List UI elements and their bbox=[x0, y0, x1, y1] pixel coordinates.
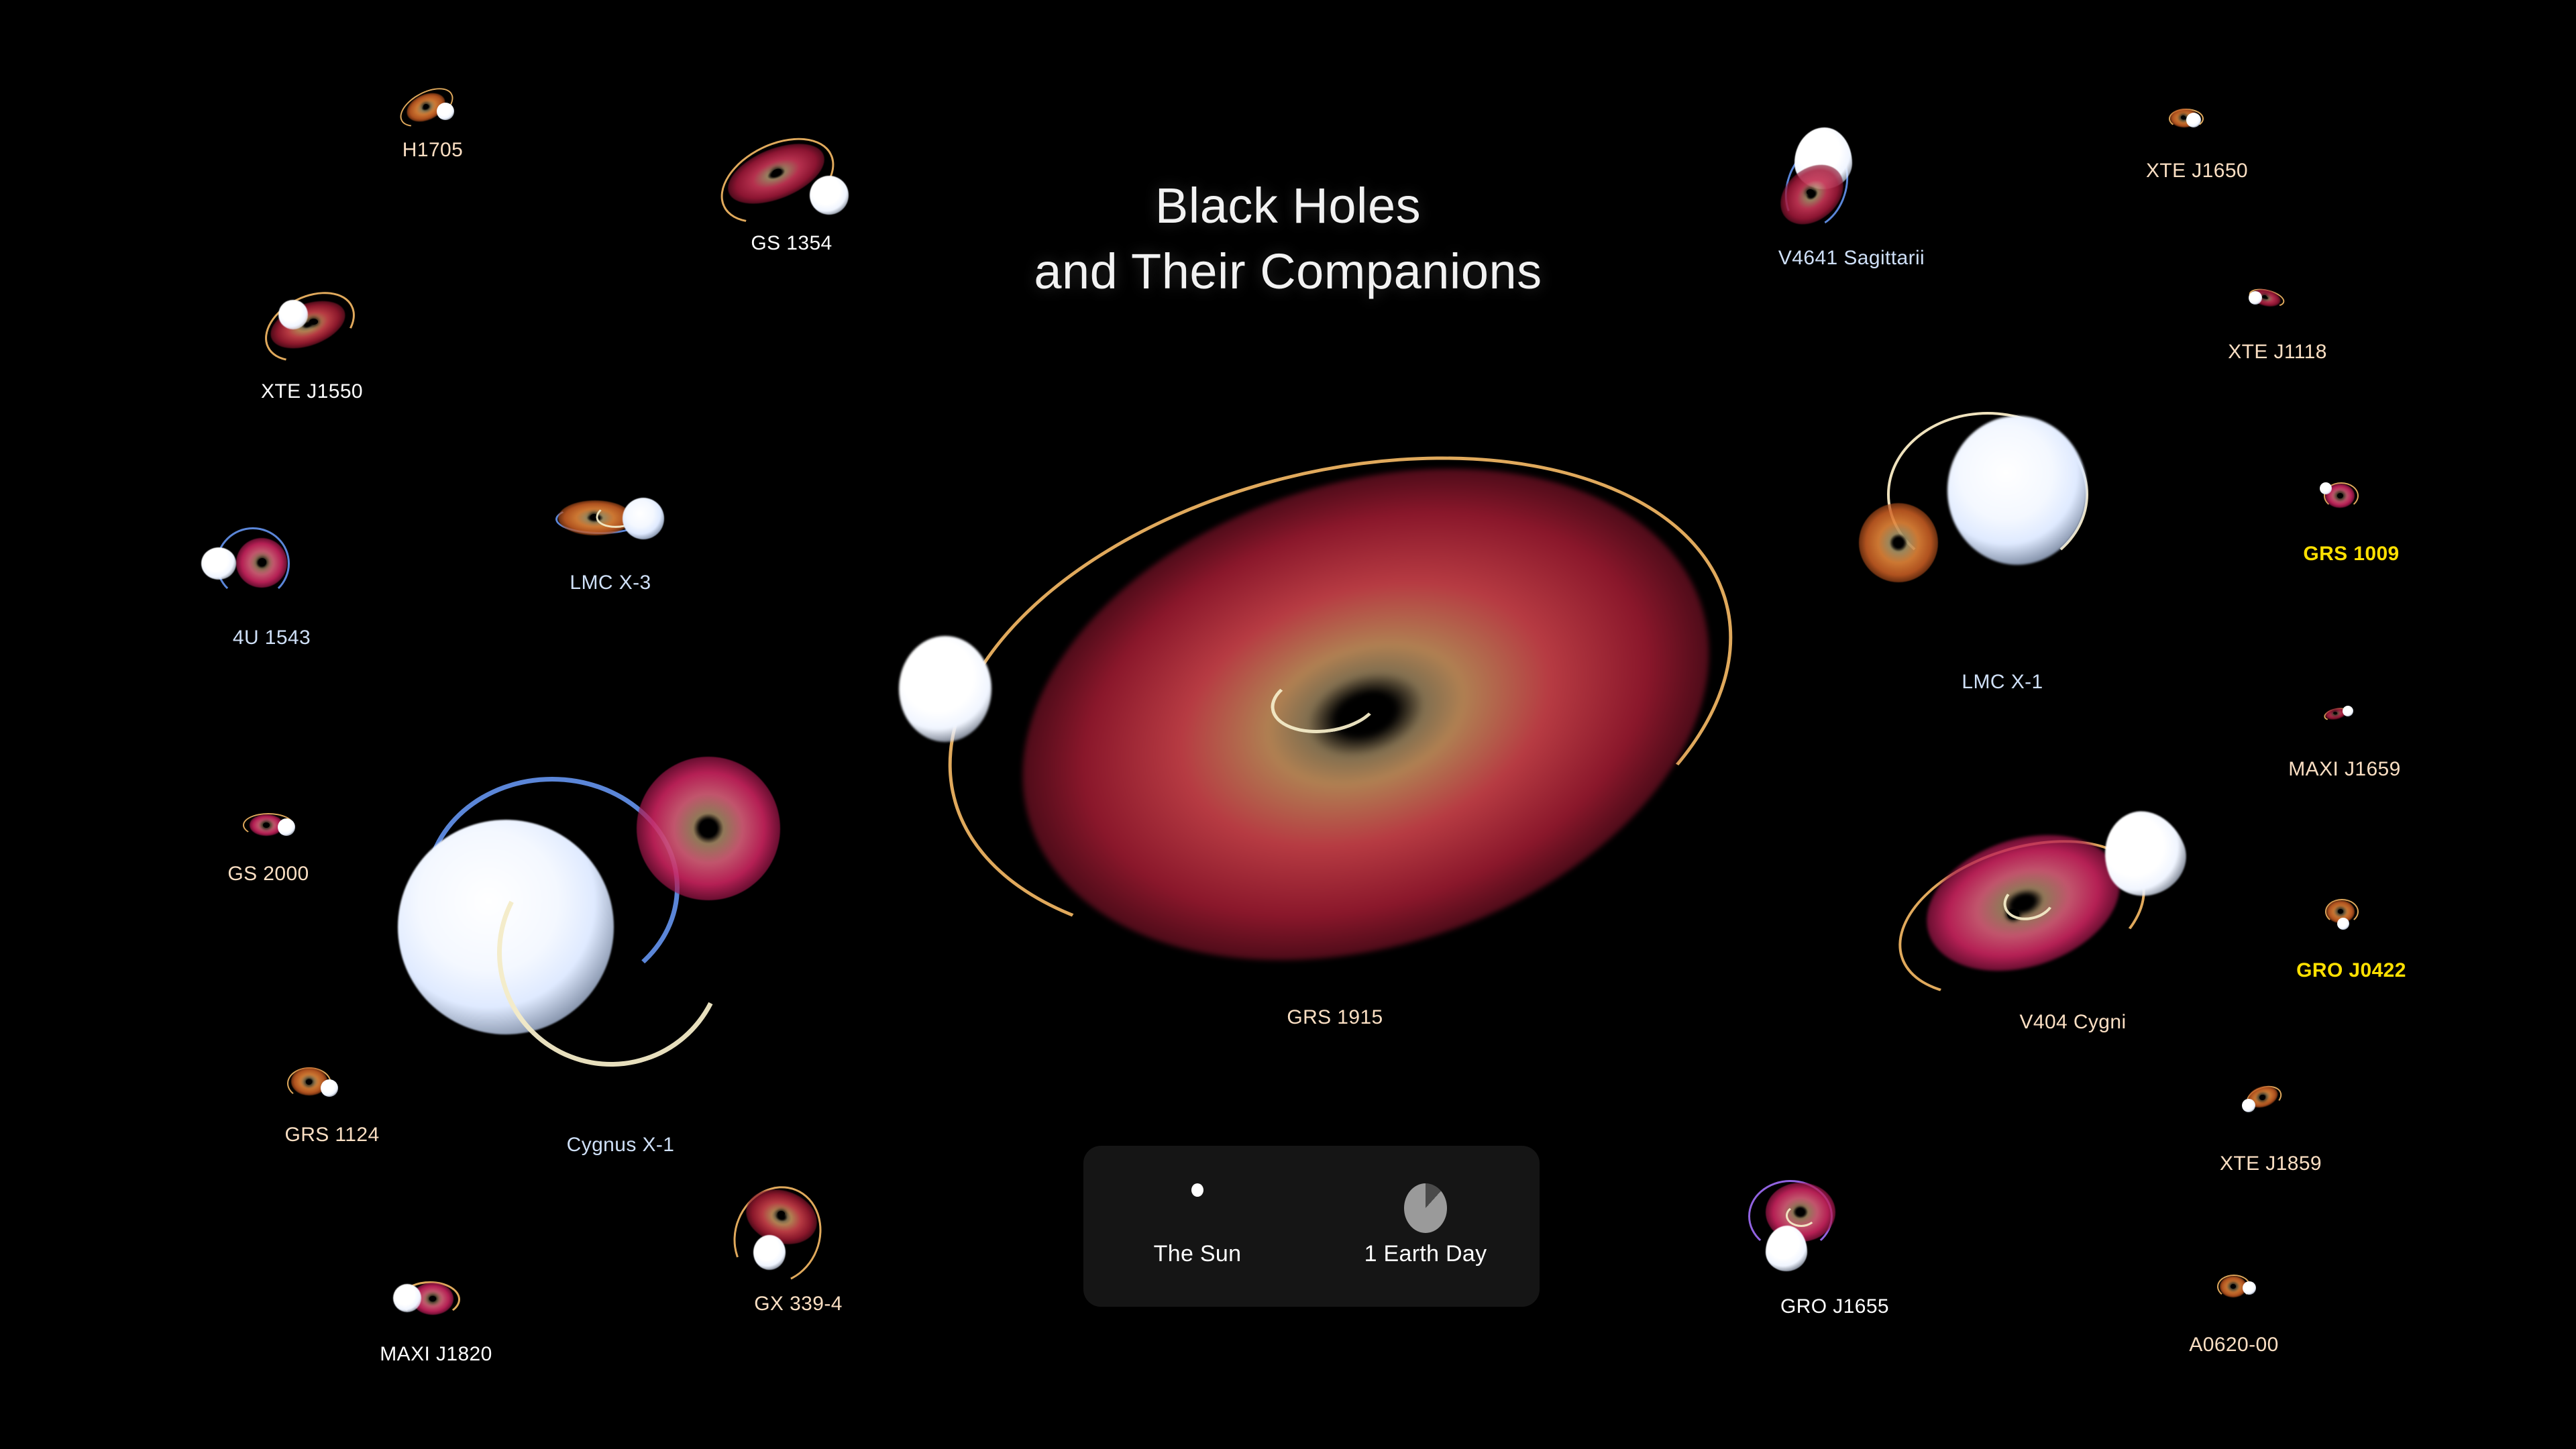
legend-label-sun: The Sun bbox=[1083, 1241, 1311, 1267]
system-v4641-sagittarii[interactable]: V4641 Sagittarii bbox=[1754, 114, 1949, 282]
system-xte-j1650[interactable]: XTE J1650 bbox=[2130, 94, 2264, 201]
system-a0620-00[interactable]: A0620-00 bbox=[2150, 1261, 2318, 1375]
system-label: H1705 bbox=[402, 139, 463, 162]
system-grs-1124[interactable]: GRS 1124 bbox=[268, 1050, 396, 1157]
system-label: XTE J1650 bbox=[2146, 160, 2248, 182]
system-label: XTE J1550 bbox=[261, 380, 363, 403]
system-xte-j1550[interactable]: XTE J1550 bbox=[238, 285, 386, 413]
system-label: 4U 1543 bbox=[233, 627, 311, 649]
system-h1705[interactable]: H1705 bbox=[386, 77, 480, 158]
system-v404-cygni[interactable]: V404 Cygni bbox=[1885, 775, 2261, 1057]
legend-item-day: 1 Earth Day bbox=[1311, 1146, 1540, 1307]
system-label: MAXI J1659 bbox=[2288, 758, 2400, 781]
system-grs-1915[interactable]: GRS 1915 bbox=[892, 463, 1778, 1053]
system-label: GRS 1915 bbox=[1287, 1006, 1383, 1029]
legend-label-day: 1 Earth Day bbox=[1311, 1241, 1540, 1267]
system-label: GS 1354 bbox=[751, 232, 832, 255]
system-label: V4641 Sagittarii bbox=[1778, 247, 1925, 270]
sun-dot-icon bbox=[1191, 1183, 1203, 1197]
system-grs-1009[interactable]: GRS 1009 bbox=[2281, 473, 2422, 587]
system-xte-j1118[interactable]: XTE J1118 bbox=[2207, 268, 2348, 376]
system-label: GRS 1124 bbox=[284, 1124, 379, 1146]
system-lmc-x-1[interactable]: LMC X-1 bbox=[1848, 402, 2157, 718]
system-lmc-x-3[interactable]: LMC X-3 bbox=[537, 483, 684, 604]
system-xte-j1859[interactable]: XTE J1859 bbox=[2194, 1073, 2348, 1187]
system-gx-339-4[interactable]: GX 339-4 bbox=[714, 1177, 882, 1332]
legend-item-sun: The Sun bbox=[1083, 1146, 1311, 1307]
scale-legend: The Sun 1 Earth Day bbox=[1083, 1146, 1540, 1307]
system-label: LMC X-1 bbox=[1962, 671, 2043, 694]
system-maxi-j1659[interactable]: MAXI J1659 bbox=[2267, 691, 2422, 792]
system-artwork bbox=[386, 745, 855, 1174]
system-label: XTE J1118 bbox=[2228, 341, 2327, 364]
system-label: LMC X-3 bbox=[570, 572, 651, 594]
system-artwork bbox=[2150, 1261, 2318, 1375]
system-maxi-j1820[interactable]: MAXI J1820 bbox=[356, 1268, 517, 1382]
system-4u-1543[interactable]: 4U 1543 bbox=[195, 517, 349, 664]
system-gs-1354[interactable]: GS 1354 bbox=[708, 134, 875, 268]
system-artwork bbox=[1737, 1171, 1932, 1345]
system-gro-j0422[interactable]: GRO J0422 bbox=[2281, 885, 2422, 1006]
starfield-canvas: Black Holes and Their Companions H1705 G… bbox=[0, 0, 2576, 1449]
system-artwork bbox=[892, 463, 1778, 1053]
system-label: XTE J1859 bbox=[2220, 1152, 2322, 1175]
system-label: GRO J1655 bbox=[1780, 1295, 1889, 1318]
system-label: Cygnus X-1 bbox=[567, 1134, 675, 1157]
clock-pie-icon bbox=[1404, 1183, 1447, 1233]
system-label: MAXI J1820 bbox=[380, 1343, 492, 1366]
system-artwork bbox=[2130, 94, 2264, 201]
system-label: GX 339-4 bbox=[754, 1293, 843, 1316]
system-label: GRS 1009 bbox=[2303, 543, 2399, 566]
system-gs-2000[interactable]: GS 2000 bbox=[208, 798, 329, 899]
system-label: A0620-00 bbox=[2189, 1334, 2278, 1356]
system-cygnus-x-1[interactable]: Cygnus X-1 bbox=[386, 745, 855, 1174]
system-label: V404 Cygni bbox=[2019, 1011, 2126, 1034]
system-label: GS 2000 bbox=[227, 863, 309, 885]
system-artwork bbox=[2281, 473, 2422, 587]
system-label: GRO J0422 bbox=[2296, 959, 2406, 982]
system-artwork bbox=[2281, 885, 2422, 1006]
system-gro-j1655[interactable]: GRO J1655 bbox=[1737, 1171, 1932, 1345]
